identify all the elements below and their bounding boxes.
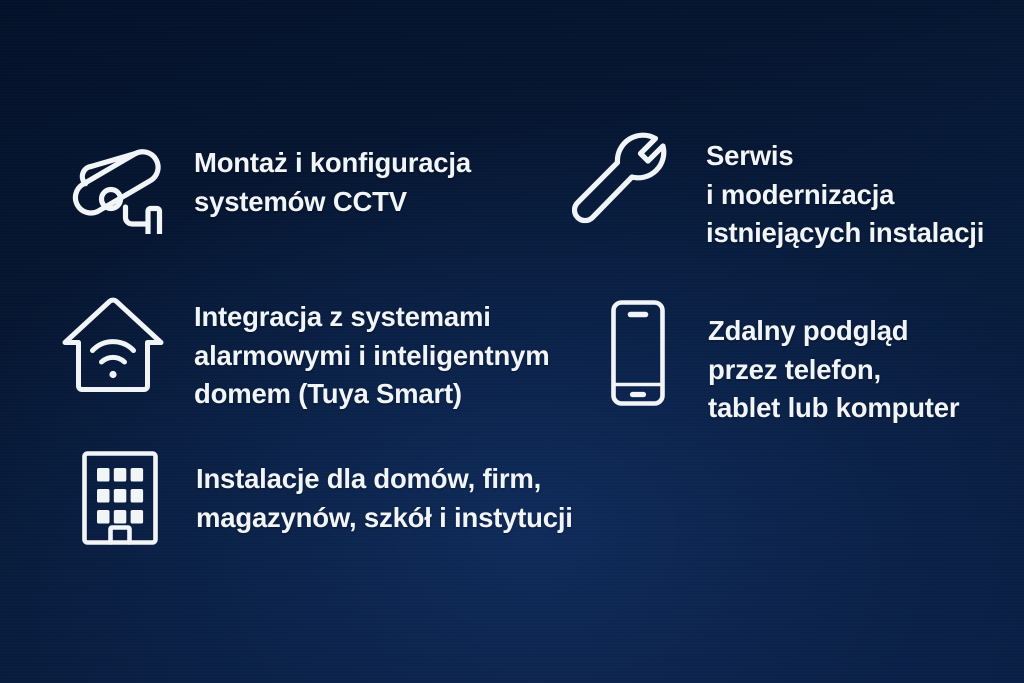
feature-label-scope: Instalacje dla domów, firm, magazynów, s…: [196, 460, 573, 537]
smart-home-wifi-icon: [56, 294, 170, 394]
feature-list: Montaż i konfiguracja systemów CCTV Serw…: [0, 0, 1024, 683]
promo-slide: Montaż i konfiguracja systemów CCTV Serw…: [0, 0, 1024, 683]
cctv-camera-icon: [62, 138, 170, 234]
feature-item-smarthome: Integracja z systemami alarmowymi i inte…: [56, 294, 549, 414]
feature-label-remote: Zdalny podgląd przez telefon, tablet lub…: [708, 312, 959, 428]
feature-label-smarthome: Integracja z systemami alarmowymi i inte…: [194, 298, 549, 414]
feature-item-service: Serwis i modernizacja istniejących insta…: [572, 128, 984, 253]
office-building-icon: [72, 448, 168, 548]
feature-item-scope: Instalacje dla domów, firm, magazynów, s…: [72, 448, 573, 548]
feature-item-cctv: Montaż i konfiguracja systemów CCTV: [62, 138, 471, 234]
feature-label-service: Serwis i modernizacja istniejących insta…: [706, 137, 984, 253]
feature-label-cctv: Montaż i konfiguracja systemów CCTV: [194, 144, 471, 221]
wrench-icon: [572, 128, 680, 238]
smartphone-icon: [588, 296, 688, 410]
feature-item-remote: Zdalny podgląd przez telefon, tablet lub…: [588, 296, 959, 428]
